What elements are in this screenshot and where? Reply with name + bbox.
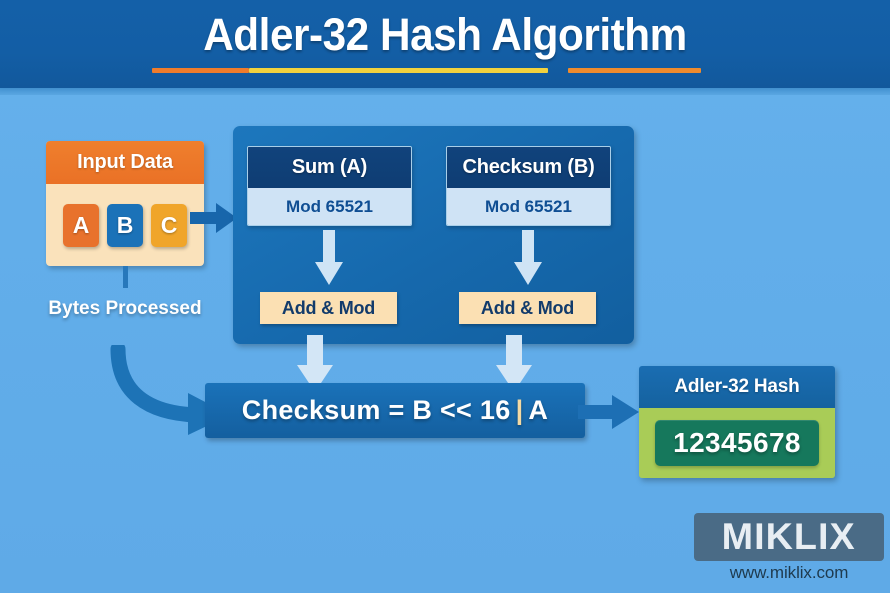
arrow-down-icon — [513, 230, 543, 286]
input-data-card: Input Data A B C — [46, 141, 204, 266]
arrow-right-icon — [190, 202, 238, 234]
adler32-hash-title: Adler-32 Hash — [639, 366, 835, 408]
byte-tile-a: A — [63, 204, 99, 247]
input-card-stem — [123, 266, 128, 288]
checksum-b-title: Checksum (B) — [447, 147, 610, 188]
page-title: Adler-32 Hash Algorithm — [27, 9, 864, 61]
checksum-b-mod-label: Mod 65521 — [447, 188, 610, 225]
formula-suffix: A — [528, 395, 548, 426]
adler32-hash-value: 12345678 — [655, 420, 819, 466]
sum-a-title: Sum (A) — [248, 147, 411, 188]
brand-plate: MIKLIX — [694, 513, 884, 561]
brand-name: MIKLIX — [722, 516, 856, 558]
infographic-canvas: Adler-32 Hash Algorithm Input Data A B C… — [0, 0, 890, 593]
arrow-right-icon — [578, 394, 640, 430]
header-banner: Adler-32 Hash Algorithm — [0, 0, 890, 88]
checksum-formula-bar: Checksum = B << 16 | A — [205, 383, 585, 438]
add-mod-a-box: Add & Mod — [260, 292, 397, 324]
adler32-hash-panel: 12345678 — [639, 408, 835, 478]
brand-url: www.miklix.com — [694, 563, 884, 583]
title-underline-segment-orange-left — [152, 68, 249, 73]
sum-a-mod-label: Mod 65521 — [248, 188, 411, 225]
header-edge-highlight — [0, 88, 890, 95]
arrow-down-icon — [314, 230, 344, 286]
checksum-b-card: Checksum (B) Mod 65521 — [446, 146, 611, 226]
formula-pipe-symbol: | — [511, 395, 529, 426]
input-byte-tiles: A B C — [46, 184, 204, 266]
watermark: MIKLIX www.miklix.com — [694, 513, 884, 585]
process-container: Sum (A) Mod 65521 Checksum (B) Mod 65521… — [233, 126, 634, 344]
adler32-hash-result-card: Adler-32 Hash 12345678 — [639, 366, 835, 478]
byte-tile-c: C — [151, 204, 187, 247]
byte-tile-b: B — [107, 204, 143, 247]
add-mod-b-box: Add & Mod — [459, 292, 596, 324]
formula-prefix: Checksum = B << 16 — [242, 395, 511, 426]
sum-a-card: Sum (A) Mod 65521 — [247, 146, 412, 226]
title-underline-segment-yellow — [249, 68, 548, 73]
title-underline-segment-orange-right — [568, 68, 701, 73]
bytes-processed-label: Bytes Processed — [45, 297, 205, 320]
input-data-title: Input Data — [46, 141, 204, 184]
